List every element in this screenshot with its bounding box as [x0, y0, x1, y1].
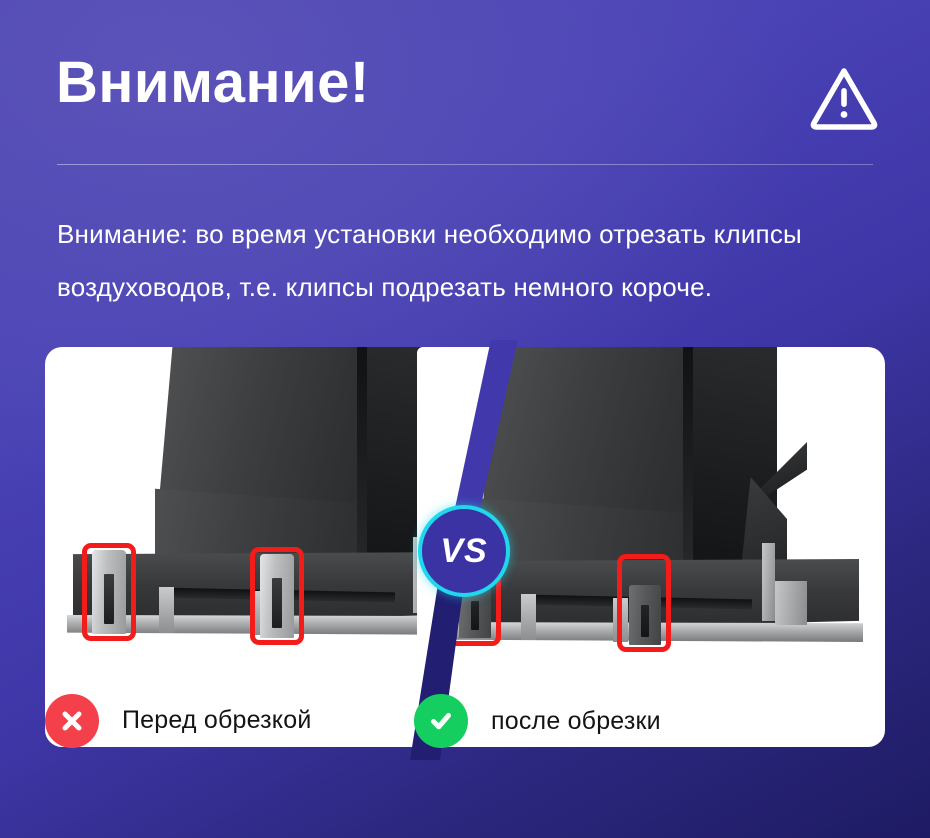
check-icon	[427, 707, 455, 735]
comparison-section: VS	[0, 340, 930, 760]
highlight-box-right	[250, 547, 304, 645]
highlight-box-right	[617, 554, 671, 652]
vs-badge: VS	[418, 505, 510, 597]
description-line-1: Внимание: во время установки необходимо …	[57, 208, 897, 261]
result-label-before: Перед обрезкой	[122, 706, 312, 735]
highlight-box-left	[82, 543, 136, 641]
warning-triangle-icon	[810, 66, 878, 130]
vs-badge-label: VS	[440, 532, 487, 571]
description-text: Внимание: во время установки необходимо …	[57, 208, 897, 314]
status-badge-after	[414, 694, 468, 748]
header: Внимание!	[0, 0, 930, 170]
description-line-2: воздуховодов, т.е. клипсы подрезать немн…	[57, 261, 897, 314]
status-badge-before	[45, 694, 99, 748]
page-title: Внимание!	[56, 54, 370, 112]
cross-icon	[59, 708, 85, 734]
header-divider	[57, 164, 873, 165]
result-label-after: после обрезки	[491, 707, 661, 736]
